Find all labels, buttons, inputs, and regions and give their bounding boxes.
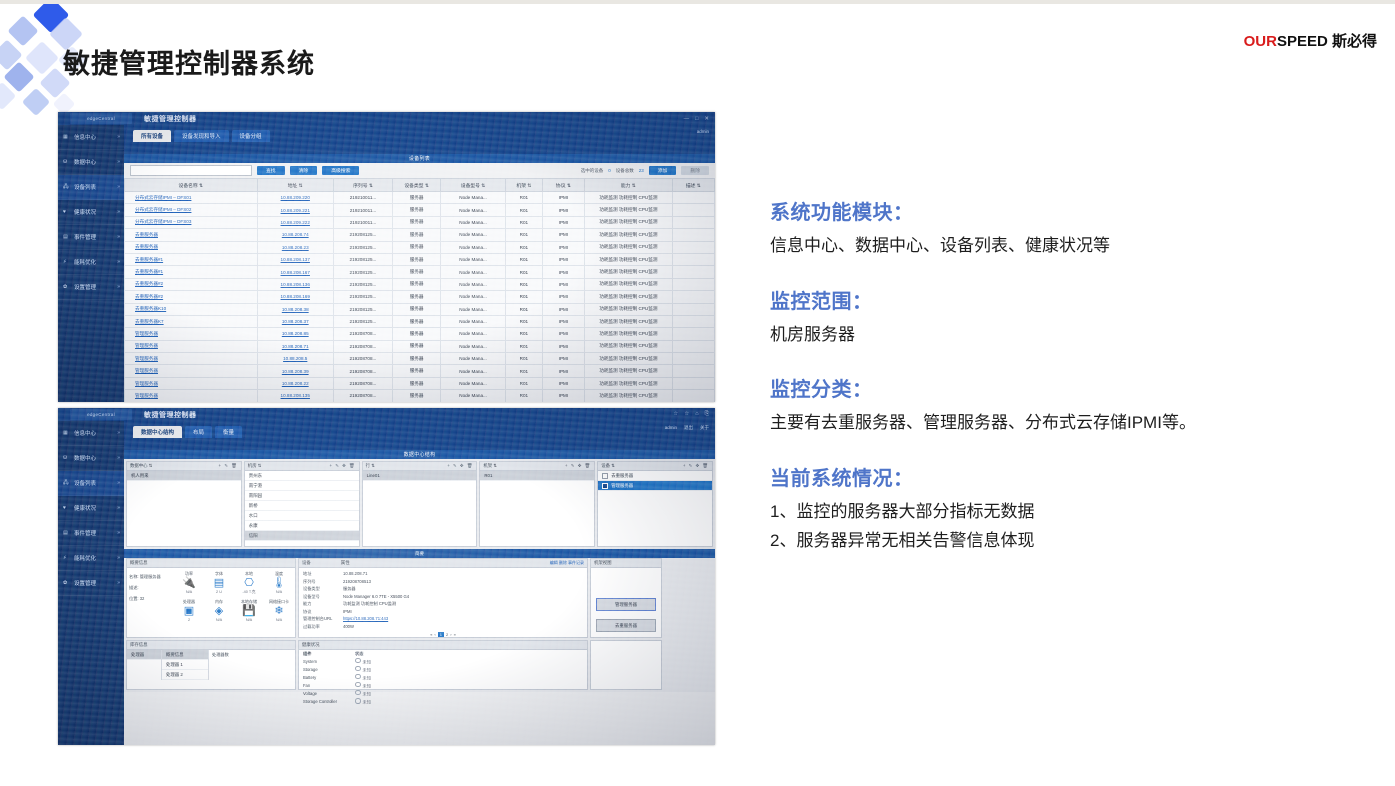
metric-value: N/A xyxy=(276,590,282,594)
tab-0[interactable]: 数据中心结构 xyxy=(133,426,182,438)
cell-7-7: 功耗监测 功耗控制 CPU监测 xyxy=(585,278,673,290)
table-row[interactable]: 管理服务器10.88.208.39219208708...服务器Node Man… xyxy=(125,365,715,377)
list-item-label: 机人用来 xyxy=(131,473,149,479)
chevron-right-icon: » xyxy=(117,555,120,561)
table-row[interactable]: 分布式云存储IPMI – DFS0310.88.209.222219210011… xyxy=(125,216,715,228)
device-field-6: 管理控制台URLhttps://10.88.208.71:443 xyxy=(303,615,583,623)
metric-value: N/A xyxy=(246,618,252,622)
cell-1-2: 219210011... xyxy=(333,204,392,216)
panel-title: 数据中心结构 xyxy=(124,450,715,459)
list-item[interactable]: 去重服务器 xyxy=(598,471,712,481)
screenshot-device-list: edgeCentral 敏捷管理控制器 — □ ✕ admin ▦信息中心»⛁数… xyxy=(58,112,715,402)
cell-14-3: 服务器 xyxy=(393,365,441,377)
list-item[interactable]: 贵州东 xyxy=(245,471,359,481)
column-header-3[interactable]: 设备类型 ⇅ xyxy=(393,179,441,192)
device-icon: 🖧 xyxy=(63,184,70,191)
table-row[interactable]: 去重服务器10.88.208.74219208125...服务器Node Man… xyxy=(125,229,715,241)
window-icon-0[interactable]: ☆ xyxy=(673,411,678,418)
add-button[interactable]: 添加 xyxy=(649,166,677,175)
section-line: 主要有去重服务器、管理服务器、分布式云存储IPMI等。 xyxy=(770,411,1380,436)
cell-5-0[interactable]: 去重服务器#1 xyxy=(125,253,258,265)
cell-11-6: IPMI xyxy=(542,328,584,340)
clear-button[interactable]: 清除 xyxy=(290,166,318,175)
tab-0[interactable]: 所有设备 xyxy=(133,130,171,142)
health-component: Storage xyxy=(303,666,355,674)
cell-4-4: Node Mana... xyxy=(441,241,506,253)
metric-5: 内存◈N/A xyxy=(205,599,233,622)
pager-»[interactable]: » xyxy=(454,632,456,637)
cell-8-8 xyxy=(672,291,714,303)
search-toolbar: 查找 清除 高级搜索 选中的设备 0 设备总数 23 添加 删除 xyxy=(124,163,715,178)
cell-3-1[interactable]: 10.88.208.74 xyxy=(257,229,333,241)
sidebar-item-1[interactable]: ⛁数据中心» xyxy=(58,150,124,175)
column-ops[interactable]: + ✎ 🗑 xyxy=(219,463,238,469)
cell-15-7: 功耗监测 功耗控制 CPU监测 xyxy=(585,377,673,389)
cell-1-1[interactable]: 10.88.209.221 xyxy=(257,204,333,216)
cell-4-0[interactable]: 去重服务器 xyxy=(125,241,258,253)
sidebar-item-label: 能耗优化 xyxy=(74,554,96,562)
total-label: 设备总数 xyxy=(616,168,634,174)
cell-16-6: IPMI xyxy=(542,390,584,402)
health-header: 组件 状态 xyxy=(299,650,587,658)
cell-14-1[interactable]: 10.88.208.39 xyxy=(257,365,333,377)
sidebar-item-label: 事件管理 xyxy=(74,233,96,241)
cell-4-6: IPMI xyxy=(542,241,584,253)
health-row-0: System未知 xyxy=(303,658,583,666)
field-value[interactable]: https://10.88.208.71:443 xyxy=(343,615,388,623)
column-title[interactable]: 机架 ⇅+ ✎ ✥ 🗑 xyxy=(480,462,594,471)
pager-«[interactable]: « xyxy=(430,632,432,637)
checkbox[interactable] xyxy=(602,483,608,489)
summary-loc-value: 32 xyxy=(140,596,145,601)
cell-0-1[interactable]: 10.88.209.220 xyxy=(257,192,333,204)
cell-3-8 xyxy=(672,229,714,241)
cell-3-6: IPMI xyxy=(542,229,584,241)
find-button[interactable]: 查找 xyxy=(257,166,285,175)
bottom-panels: 库存信息 处理器 概要信息处理器 1处理器 2 处理器数 健康状况 组件 状态 … xyxy=(124,640,715,692)
pager-›[interactable]: › xyxy=(450,632,451,637)
cell-15-2: 219208708... xyxy=(333,377,392,389)
list-item[interactable]: Line01 xyxy=(363,471,477,481)
section-heading: 监控分类： xyxy=(770,373,1380,402)
field-value: 400W xyxy=(343,623,354,631)
health-row-2: Battery未知 xyxy=(303,674,583,682)
sidebar-item-label: 信息中心 xyxy=(74,429,96,437)
list-item[interactable]: R01 xyxy=(480,471,594,481)
cell-1-0[interactable]: 分布式云存储IPMI – DFS02 xyxy=(125,204,258,216)
health-component: Battery xyxy=(303,674,355,682)
summary-panel: 概要信息 名称: 管理服务器 描述: 位置: 32 功率🔌N/A字体▤2 U xyxy=(126,558,296,638)
health-status: 未知 xyxy=(355,698,371,706)
table-row[interactable]: 去重服务器#110.88.208.137219208125...服务器Node … xyxy=(125,253,715,265)
metric-value: N/A xyxy=(186,590,192,594)
table-row[interactable]: 管理服务器10.88.208.71219208708...服务器Node Man… xyxy=(125,340,715,352)
tab-2[interactable]: 衡量 xyxy=(215,426,242,438)
power-icon: ⚡ xyxy=(63,259,70,266)
cell-16-4: Node Mana... xyxy=(441,390,506,402)
sidebar-item-4[interactable]: ▤事件管理» xyxy=(58,521,124,546)
structure-column-4: 设备 ⇅+ ✎ ✥ 🗑去重服务器管理服务器 xyxy=(597,461,713,547)
column-ops[interactable]: + ✎ ✥ 🗑 xyxy=(565,463,591,469)
list-item[interactable]: 信阳 xyxy=(245,531,359,541)
column-header-5[interactable]: 机架 ⇅ xyxy=(506,179,543,192)
list-item[interactable]: 水口 xyxy=(245,511,359,521)
section-line: 2、服务器异常无相关告警信息体现 xyxy=(770,529,1380,554)
tab-1[interactable]: 布局 xyxy=(185,426,212,438)
metric-2: 本地⎔-40 T.克 xyxy=(235,571,263,595)
list-item-label: 水口 xyxy=(249,513,258,519)
cell-12-3: 服务器 xyxy=(393,340,441,352)
rack-item-1[interactable]: 去重服务器 xyxy=(596,619,656,632)
user-bar: admin 退出 关于 xyxy=(665,422,709,433)
inventory-item-0[interactable]: 概要信息 xyxy=(162,650,208,660)
chevron-right-icon: » xyxy=(117,184,120,190)
metric-6: 本地存储💾N/A xyxy=(235,599,263,622)
cell-11-3: 服务器 xyxy=(393,328,441,340)
health-row-3: Fan未知 xyxy=(303,682,583,690)
cell-6-0[interactable]: 去重服务器#1 xyxy=(125,266,258,278)
section-status: 当前系统情况： 1、监控的服务器大部分指标无数据 2、服务器异常无相关告警信息体… xyxy=(770,462,1380,553)
edit-link[interactable]: 编辑 xyxy=(550,560,558,565)
column-title[interactable]: 机房 ⇅+ ✎ ✥ 🗑 xyxy=(245,462,359,471)
cell-9-0[interactable]: 去重服务器K10 xyxy=(125,303,258,315)
close-icon[interactable]: ✕ xyxy=(704,116,709,122)
cell-8-0[interactable]: 去重服务器#2 xyxy=(125,291,258,303)
sidebar-item-2[interactable]: 🖧设备列表» xyxy=(58,175,124,200)
cell-14-4: Node Mana... xyxy=(441,365,506,377)
cell-11-0[interactable]: 管理服务器 xyxy=(125,328,258,340)
cell-13-0[interactable]: 管理服务器 xyxy=(125,353,258,365)
dashboard-icon: ▦ xyxy=(63,134,70,141)
window-icons[interactable]: ☆☆⌂⎘ xyxy=(673,411,709,418)
selected-label: 选中的设备 xyxy=(581,168,604,174)
list-item-label: 去重服务器 xyxy=(611,473,633,479)
sidebar-item-label: 健康状况 xyxy=(74,208,96,216)
table-row[interactable]: 去重服务器#210.88.208.169219208125...服务器Node … xyxy=(125,291,715,303)
sidebar-item-label: 事件管理 xyxy=(74,529,96,537)
cell-3-3: 服务器 xyxy=(393,229,441,241)
cell-14-7: 功耗监测 功耗控制 CPU监测 xyxy=(585,365,673,377)
sidebar: ▦信息中心»⛁数据中心»🖧设备列表»♥健康状况»▤事件管理»⚡能耗优化»✿设置管… xyxy=(58,125,124,402)
cell-4-8 xyxy=(672,241,714,253)
cell-16-0[interactable]: 管理服务器 xyxy=(125,390,258,402)
cell-7-0[interactable]: 去重服务器#2 xyxy=(125,278,258,290)
minimize-icon[interactable]: — xyxy=(684,116,690,122)
unit-icon: ⎔ xyxy=(244,578,254,589)
cell-16-5: R01 xyxy=(506,390,543,402)
list-item-label: 新桥 xyxy=(249,503,258,509)
tab-1[interactable]: 设备发现和导入 xyxy=(174,130,229,142)
field-label: 地址 xyxy=(303,570,343,578)
device-field-1: 序列号219208708513 xyxy=(303,578,583,586)
field-label: 设备型号 xyxy=(303,593,343,601)
cell-12-5: R01 xyxy=(506,340,543,352)
cell-16-8 xyxy=(672,390,714,402)
cell-10-7: 功耗监测 功耗控制 CPU监测 xyxy=(585,315,673,327)
brand-our: OUR xyxy=(1244,33,1277,50)
table-row[interactable]: 管理服务器10.88.208.22219208708...服务器Node Man… xyxy=(125,377,715,389)
cell-2-0[interactable]: 分布式云存储IPMI – DFS03 xyxy=(125,216,258,228)
checkbox[interactable] xyxy=(602,473,608,479)
plug-icon: 🔌 xyxy=(182,578,196,589)
summary-title: 概要信息 xyxy=(127,559,295,568)
sidebar-item-label: 设备列表 xyxy=(74,183,96,191)
column-title[interactable]: 设备 ⇅+ ✎ ✥ 🗑 xyxy=(598,462,712,471)
cell-0-0[interactable]: 分布式云存储IPMI – DFS01 xyxy=(125,192,258,204)
cell-10-0[interactable]: 去重服务器K7 xyxy=(125,315,258,327)
window-buttons[interactable]: — □ ✕ xyxy=(684,116,709,122)
delete-button[interactable]: 删除 xyxy=(681,166,709,175)
sidebar-item-0[interactable]: ▦信息中心» xyxy=(58,125,124,150)
delete-link[interactable]: 删除 xyxy=(559,560,567,565)
health-panel: 健康状况 组件 状态 System未知Storage未知Battery未知Fan… xyxy=(298,640,588,690)
health-row-1: Storage未知 xyxy=(303,666,583,674)
chevron-right-icon: » xyxy=(117,159,120,165)
cell-12-7: 功耗监测 功耗控制 CPU监测 xyxy=(585,340,673,352)
cell-0-5: R01 xyxy=(506,192,543,204)
window-icon-3[interactable]: ⎘ xyxy=(705,411,709,418)
table-row[interactable]: 管理服务器10.88.208.5219208708...服务器Node Mana… xyxy=(125,353,715,365)
device-fields: 地址10.88.208.71序列号219208708513设备类型服务器设备型号… xyxy=(299,568,587,632)
cell-7-1[interactable]: 10.88.208.136 xyxy=(257,278,333,290)
cell-3-7: 功耗监测 功耗控制 CPU监测 xyxy=(585,229,673,241)
inventory-panel: 库存信息 处理器 概要信息处理器 1处理器 2 处理器数 xyxy=(126,640,296,690)
cell-2-5: R01 xyxy=(506,216,543,228)
chevron-right-icon: » xyxy=(117,134,120,140)
eventlog-link[interactable]: 事件记录 xyxy=(568,560,584,565)
field-label: 能力 xyxy=(303,600,343,608)
list-item[interactable]: 新桥 xyxy=(245,501,359,511)
cell-15-1[interactable]: 10.88.208.22 xyxy=(257,377,333,389)
table-row[interactable]: 去重服务器#210.88.208.136219208125...服务器Node … xyxy=(125,278,715,290)
cell-15-0[interactable]: 管理服务器 xyxy=(125,377,258,389)
cell-0-4: Node Mana... xyxy=(441,192,506,204)
cell-5-4: Node Mana... xyxy=(441,253,506,265)
chevron-right-icon: » xyxy=(117,259,120,265)
cell-0-8 xyxy=(672,192,714,204)
logout-link[interactable]: 退出 xyxy=(684,425,693,431)
device-actions[interactable]: 编辑 删除 事件记录 xyxy=(550,560,584,566)
section-scope: 监控范围： 机房服务器 xyxy=(770,285,1380,348)
cell-2-4: Node Mana... xyxy=(441,216,506,228)
cell-4-2: 219208125... xyxy=(333,241,392,253)
sidebar-item-1[interactable]: ⛁数据中心» xyxy=(58,446,124,471)
health-status: 未知 xyxy=(355,674,371,682)
inventory-left-item[interactable]: 处理器 xyxy=(127,650,161,660)
cell-10-1[interactable]: 10.88.208.37 xyxy=(257,315,333,327)
advanced-search-button[interactable]: 高级搜索 xyxy=(322,166,359,175)
table-row[interactable]: 去重服务器#110.88.208.167219208125...服务器Node … xyxy=(125,266,715,278)
toolbar-right: 选中的设备 0 设备总数 23 添加 删除 xyxy=(581,166,709,175)
inventory-item-1[interactable]: 处理器 1 xyxy=(162,660,208,670)
cell-4-7: 功耗监测 功耗控制 CPU监测 xyxy=(585,241,673,253)
table-row[interactable]: 去重服务器K1010.88.208.38219208125...服务器Node … xyxy=(125,303,715,315)
cell-0-2: 219210011... xyxy=(333,192,392,204)
search-input[interactable] xyxy=(130,165,252,176)
maximize-icon[interactable]: □ xyxy=(695,116,698,122)
cell-10-2: 219208125... xyxy=(333,315,392,327)
table-row[interactable]: 去重服务器K710.88.208.37219208125...服务器Node M… xyxy=(125,315,715,327)
memory-icon: ◈ xyxy=(215,606,223,617)
inventory-item-2[interactable]: 处理器 2 xyxy=(162,670,208,680)
cell-10-5: R01 xyxy=(506,315,543,327)
list-item[interactable]: 南宁港 xyxy=(245,481,359,491)
sidebar-item-5[interactable]: ⚡能耗优化» xyxy=(58,250,124,275)
storage-icon: 💾 xyxy=(242,606,256,617)
status-dot-icon xyxy=(355,690,361,696)
column-header-8[interactable]: 描述 ⇅ xyxy=(672,179,714,192)
list-item[interactable]: 南阳园 xyxy=(245,491,359,501)
column-header-7[interactable]: 能力 ⇅ xyxy=(585,179,673,192)
cell-12-1[interactable]: 10.88.208.71 xyxy=(257,340,333,352)
table-row[interactable]: 分布式云存储IPMI – DFS0110.88.209.220219210011… xyxy=(125,192,715,204)
list-item[interactable]: 永康 xyxy=(245,521,359,531)
pager-‹[interactable]: ‹ xyxy=(434,632,435,637)
device-attr-col: 属性 xyxy=(341,560,350,566)
section-category: 监控分类： 主要有去重服务器、管理服务器、分布式云存储IPMI等。 xyxy=(770,373,1380,436)
sidebar-item-0[interactable]: ▦信息中心» xyxy=(58,421,124,446)
device-icon: 🖧 xyxy=(63,480,70,487)
sidebar-item-label: 数据中心 xyxy=(74,454,96,462)
list-item[interactable]: 机人用来 xyxy=(127,471,241,481)
chevron-right-icon: » xyxy=(117,209,120,215)
inventory-title: 库存信息 xyxy=(127,641,295,650)
sidebar-item-6[interactable]: ✿设置管理» xyxy=(58,275,124,300)
table-row[interactable]: 管理服务器10.88.208.135219208708...服务器Node Ma… xyxy=(125,390,715,402)
health-component: Voltage xyxy=(303,690,355,698)
cell-14-0[interactable]: 管理服务器 xyxy=(125,365,258,377)
health-component: Fan xyxy=(303,682,355,690)
column-title[interactable]: 数据中心 ⇅+ ✎ 🗑 xyxy=(127,462,241,471)
cell-9-8 xyxy=(672,303,714,315)
cell-13-8 xyxy=(672,353,714,365)
cell-3-0[interactable]: 去重服务器 xyxy=(125,229,258,241)
metric-value: -40 T.克 xyxy=(242,590,255,595)
cell-5-2: 219208125... xyxy=(333,253,392,265)
cell-2-1[interactable]: 10.88.209.222 xyxy=(257,216,333,228)
cell-14-8 xyxy=(672,365,714,377)
chevron-right-icon: » xyxy=(117,284,120,290)
column-header-1[interactable]: 地址 ⇅ xyxy=(257,179,333,192)
cell-3-2: 219208125... xyxy=(333,229,392,241)
structure-columns: 数据中心 ⇅+ ✎ 🗑机人用来机房 ⇅+ ✎ ✥ 🗑贵州东南宁港南阳园新桥水口永… xyxy=(124,459,715,549)
cell-7-3: 服务器 xyxy=(393,278,441,290)
cell-16-1[interactable]: 10.88.208.135 xyxy=(257,390,333,402)
column-ops[interactable]: + ✎ ✥ 🗑 xyxy=(447,463,473,469)
cell-5-3: 服务器 xyxy=(393,253,441,265)
health-rows: System未知Storage未知Battery未知Fan未知Voltage未知… xyxy=(299,658,587,707)
cell-15-4: Node Mana... xyxy=(441,377,506,389)
metric-value: 2 xyxy=(188,618,190,622)
health-row-5: Storage Controller未知 xyxy=(303,698,583,706)
health-row-4: Voltage未知 xyxy=(303,690,583,698)
column-ops[interactable]: + ✎ ✥ 🗑 xyxy=(329,463,355,469)
cell-13-1[interactable]: 10.88.208.5 xyxy=(257,353,333,365)
column-header-2[interactable]: 序列号 ⇅ xyxy=(333,179,392,192)
cell-6-2: 219208125... xyxy=(333,266,392,278)
about-link[interactable]: 关于 xyxy=(700,425,709,431)
list-item-label: 南宁港 xyxy=(249,483,262,489)
cell-5-8 xyxy=(672,253,714,265)
selected-count: 0 xyxy=(608,168,611,173)
list-item[interactable]: 管理服务器 xyxy=(598,481,712,491)
inventory-mid-items: 概要信息处理器 1处理器 2 xyxy=(162,650,209,680)
cell-7-2: 219208125... xyxy=(333,278,392,290)
sidebar-item-4[interactable]: ▤事件管理» xyxy=(58,225,124,250)
section-line: 信息中心、数据中心、设备列表、健康状况等 xyxy=(770,234,1380,259)
cell-7-4: Node Mana... xyxy=(441,278,506,290)
list-item-label: 南阳园 xyxy=(249,493,262,499)
window-icon-1[interactable]: ☆ xyxy=(684,411,689,418)
sidebar-item-6[interactable]: ✿设置管理» xyxy=(58,571,124,596)
column-title[interactable]: 行 ⇅+ ✎ ✥ 🗑 xyxy=(363,462,477,471)
cell-12-0[interactable]: 管理服务器 xyxy=(125,340,258,352)
column-title-text: 行 ⇅ xyxy=(366,463,375,469)
column-header-6[interactable]: 协议 ⇅ xyxy=(542,179,584,192)
cell-6-1[interactable]: 10.88.208.167 xyxy=(257,266,333,278)
cell-5-1[interactable]: 10.88.208.137 xyxy=(257,253,333,265)
field-label: 序列号 xyxy=(303,578,343,586)
app-titlebar: edgeCentral 敏捷管理控制器 — □ ✕ xyxy=(58,112,715,125)
device-title-text: 设备 xyxy=(302,560,311,566)
section-modules: 系统功能模块： 信息中心、数据中心、设备列表、健康状况等 xyxy=(770,196,1380,259)
sidebar-item-2[interactable]: 🖧设备列表» xyxy=(58,471,124,496)
health-status: 未知 xyxy=(355,666,371,674)
cell-9-1[interactable]: 10.88.208.38 xyxy=(257,303,333,315)
column-header-4[interactable]: 设备型号 ⇅ xyxy=(441,179,506,192)
summary-loc-label: 位置: xyxy=(129,596,139,601)
metric-0: 功率🔌N/A xyxy=(175,571,203,595)
column-ops[interactable]: + ✎ ✥ 🗑 xyxy=(683,463,709,469)
pager-1[interactable]: 1 xyxy=(438,632,444,637)
cell-16-2: 219208708... xyxy=(333,390,392,402)
field-value: 219208708513 xyxy=(343,578,371,586)
sidebar-item-3[interactable]: ♥健康状况» xyxy=(58,496,124,521)
right-text-column: 系统功能模块： 信息中心、数据中心、设备列表、健康状况等 监控范围： 机房服务器… xyxy=(770,196,1380,573)
pager-2[interactable]: 2 xyxy=(446,632,448,637)
cell-12-8 xyxy=(672,340,714,352)
list-item-label: Line01 xyxy=(367,473,380,478)
column-header-0[interactable]: 设备名称 ⇅ xyxy=(125,179,258,192)
cell-4-1[interactable]: 10.88.208.23 xyxy=(257,241,333,253)
cell-7-5: R01 xyxy=(506,278,543,290)
cell-6-4: Node Mana... xyxy=(441,266,506,278)
cell-11-1[interactable]: 10.88.208.85 xyxy=(257,328,333,340)
field-label: 协议 xyxy=(303,608,343,616)
cell-7-6: IPMI xyxy=(542,278,584,290)
cell-13-7: 功耗监测 功耗控制 CPU监测 xyxy=(585,353,673,365)
field-value: IPMI xyxy=(343,608,352,616)
sidebar-item-3[interactable]: ♥健康状况» xyxy=(58,200,124,225)
table-row[interactable]: 去重服务器10.88.208.23219208125...服务器Node Man… xyxy=(125,241,715,253)
sidebar-item-5[interactable]: ⚡能耗优化» xyxy=(58,546,124,571)
table-row[interactable]: 管理服务器10.88.208.85219208708...服务器Node Man… xyxy=(125,328,715,340)
window-icon-2[interactable]: ⌂ xyxy=(695,411,698,418)
cell-8-1[interactable]: 10.88.208.169 xyxy=(257,291,333,303)
device-field-3: 设备型号Node Manager 6.0 7TE - X5500 G4 xyxy=(303,593,583,601)
field-label: 过载功率 xyxy=(303,623,343,631)
user-name: admin xyxy=(665,425,677,430)
tab-bar: 所有设备设备发现和导入设备分组 xyxy=(124,125,715,142)
table-row[interactable]: 分布式云存储IPMI – DFS0210.88.209.221219210011… xyxy=(125,204,715,216)
rack-item-0[interactable]: 管理服务器 xyxy=(596,598,656,611)
inventory-right-label: 处理器数 xyxy=(209,650,295,680)
event-icon: ▤ xyxy=(63,530,70,537)
cell-2-6: IPMI xyxy=(542,216,584,228)
tab-2[interactable]: 设备分组 xyxy=(232,130,270,142)
pager[interactable]: «‹12›» xyxy=(299,632,587,637)
health-status: 未知 xyxy=(355,690,371,698)
